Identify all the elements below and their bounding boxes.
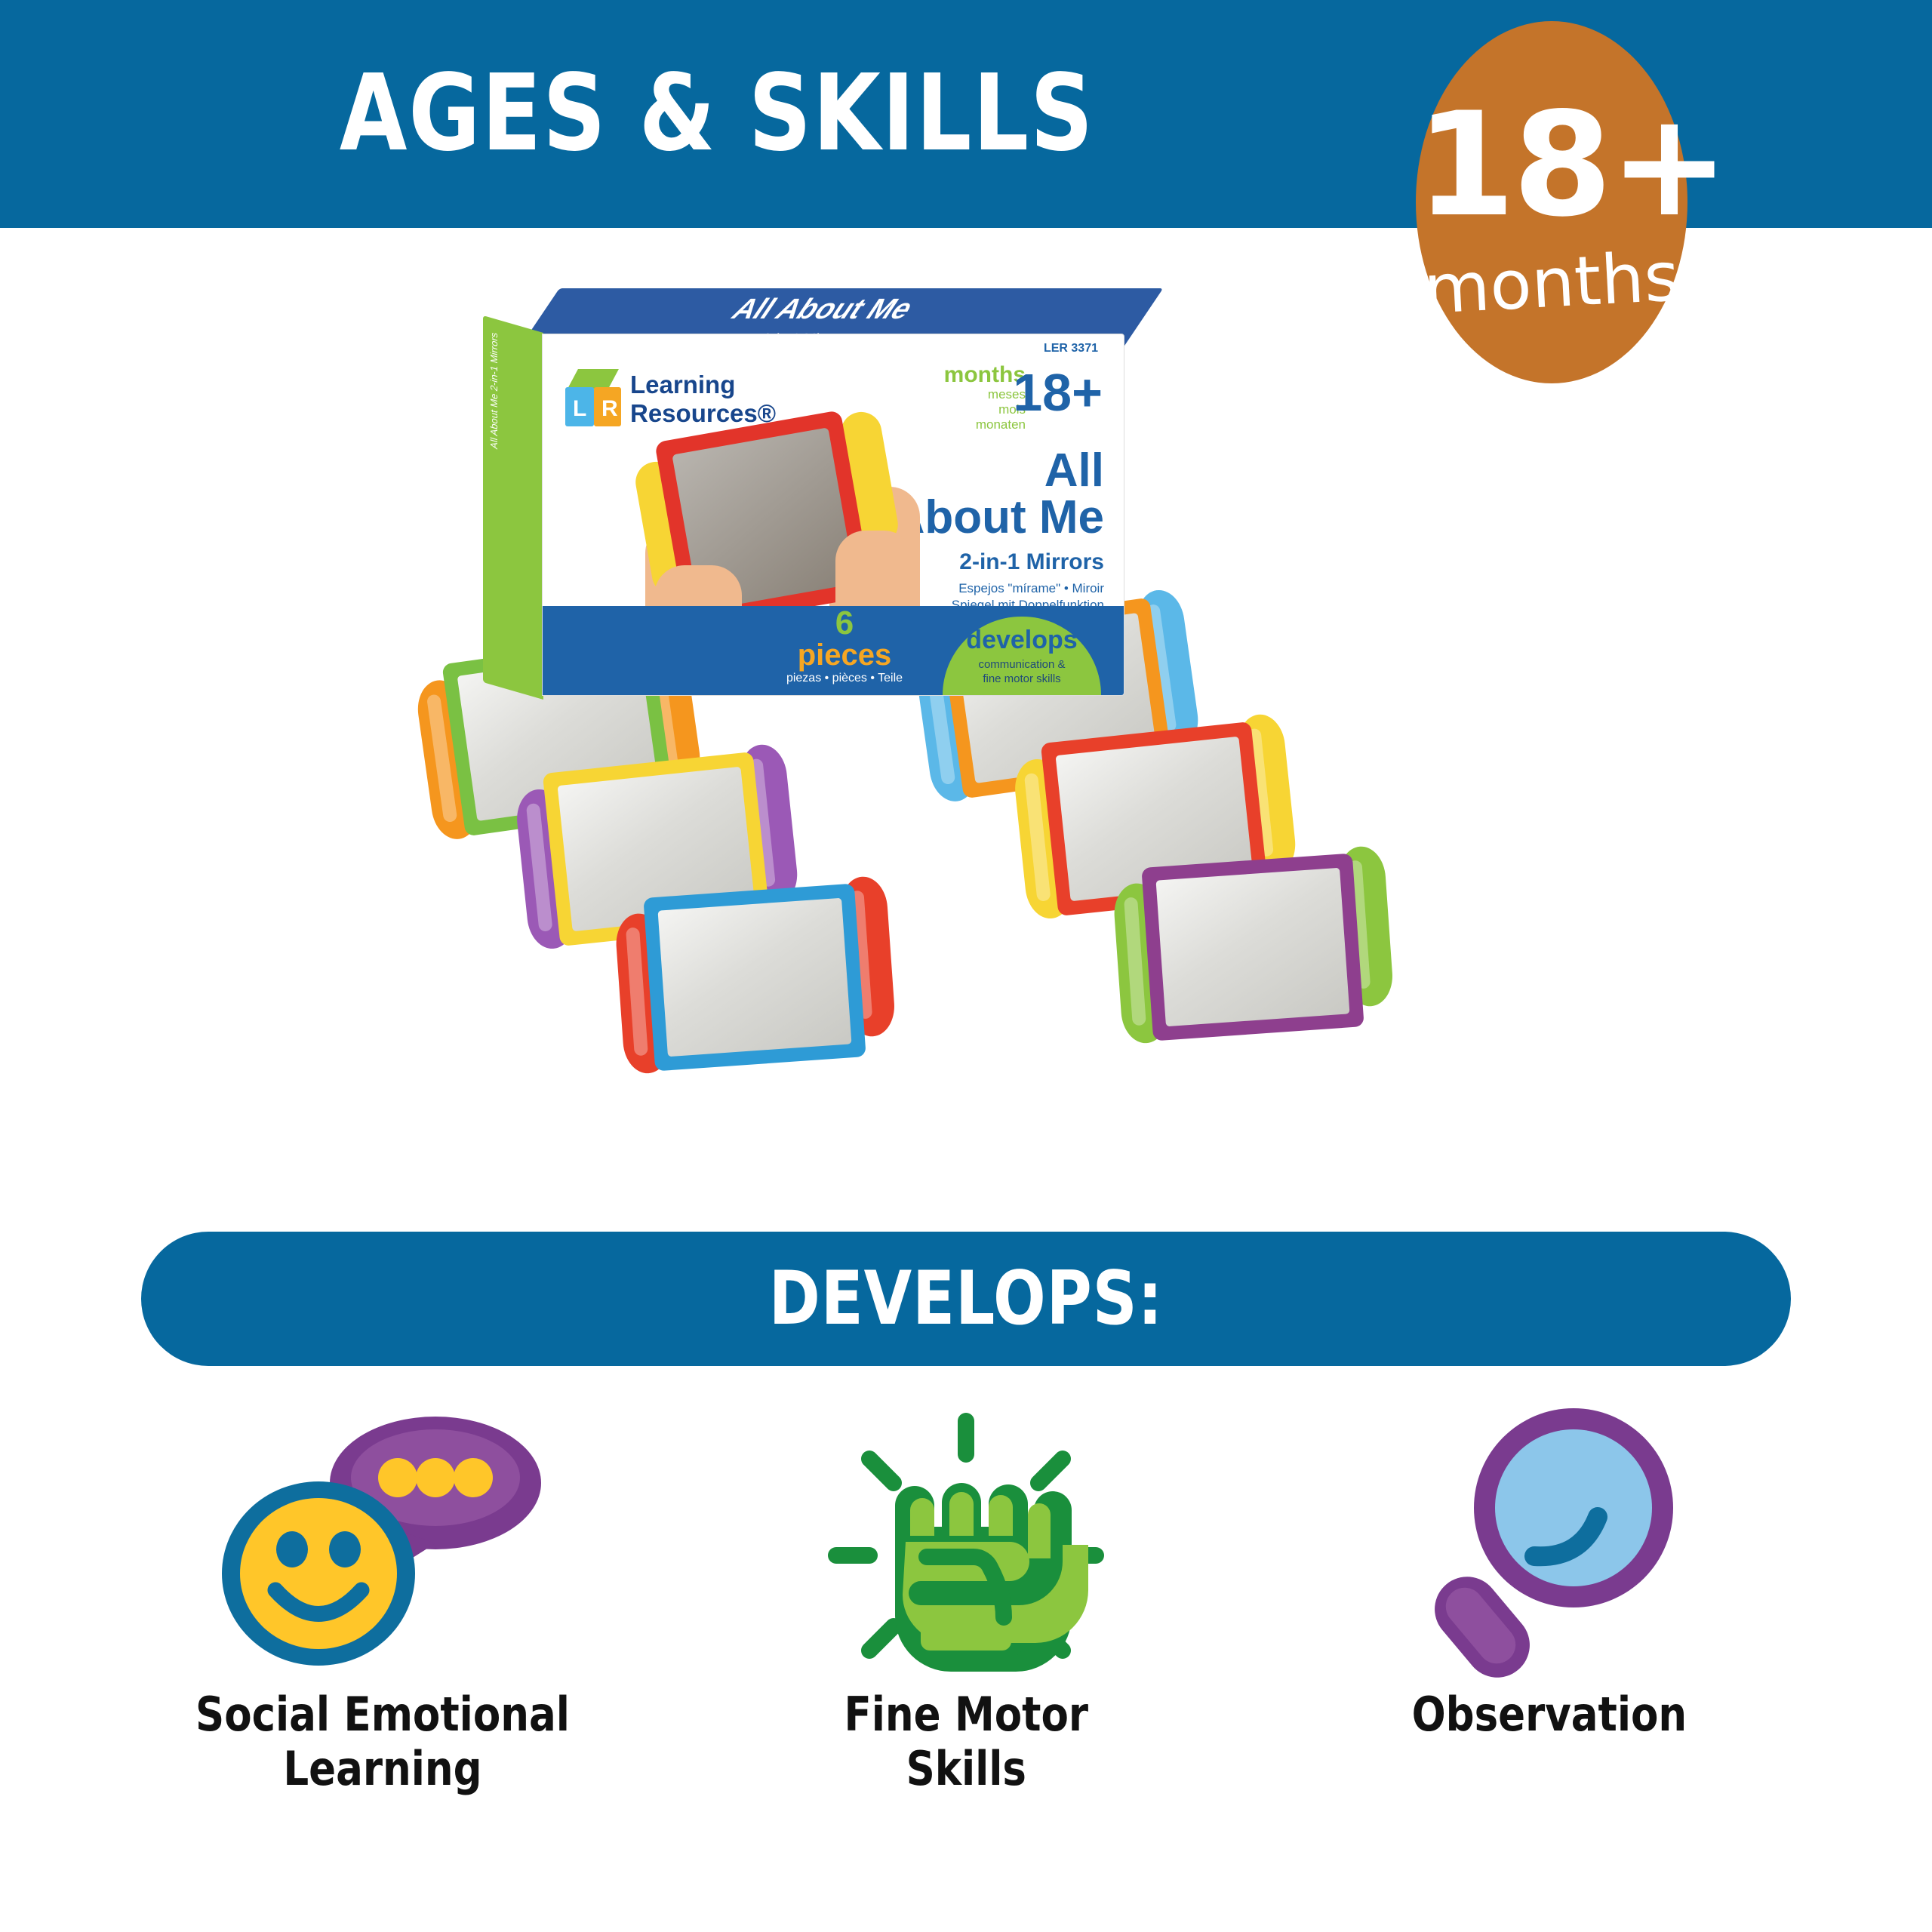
box-top-title: All About Me bbox=[571, 294, 1075, 325]
develops-banner: DEVELOPS: bbox=[141, 1232, 1791, 1366]
skill-label-observation: Observation bbox=[1412, 1687, 1687, 1742]
box-develops-badge: develops communication & fine motor skil… bbox=[943, 617, 1101, 695]
mirror-frame bbox=[643, 884, 866, 1072]
age-badge-number: 18+ bbox=[1416, 94, 1687, 237]
mirrors-product-photo bbox=[423, 634, 1509, 1223]
smiley-speech-bubble-icon bbox=[209, 1396, 556, 1683]
skill-0-label-line-2: Learning bbox=[195, 1742, 570, 1796]
magnifying-glass-icon bbox=[1414, 1396, 1685, 1683]
box-item-number: LER 3371 bbox=[1044, 342, 1098, 355]
product-box-photo: All About Me 2-in-1 Mirrors All About Me… bbox=[483, 288, 1147, 711]
age-badge: 18+ months bbox=[1416, 21, 1687, 383]
mirror-frame bbox=[1141, 854, 1364, 1041]
mirror-glass bbox=[658, 898, 852, 1057]
fist-fine-motor-icon bbox=[815, 1396, 1117, 1683]
age-badge-unit: months bbox=[1414, 241, 1690, 328]
box-develops-word: develops bbox=[943, 617, 1101, 657]
page-title: AGES & SKILLS bbox=[57, 57, 1377, 171]
blue-red-mirror bbox=[613, 881, 896, 1074]
skills-row: Social Emotional Learning bbox=[91, 1396, 1841, 1894]
skill-0-label-line-1: Social Emotional bbox=[195, 1687, 570, 1742]
develops-banner-label: DEVELOPS: bbox=[199, 1232, 1734, 1366]
box-pieces-block: 6 pieces piezas • pièces • Teile bbox=[769, 608, 920, 686]
skill-2-label-line-1: Observation bbox=[1412, 1687, 1687, 1742]
purple-green-mirror bbox=[1111, 851, 1394, 1044]
box-pieces-locale: piezas • pièces • Teile bbox=[769, 671, 920, 686]
box-pieces-word: pieces bbox=[769, 639, 920, 671]
mirror-glass bbox=[1156, 868, 1350, 1027]
box-front-panel: LER 3371 LR Learning Resources® months m… bbox=[542, 334, 1124, 696]
skill-label-fine-motor-skills: Fine Motor Skills bbox=[844, 1687, 1088, 1796]
skill-fine-motor-skills: Fine Motor Skills bbox=[724, 1396, 1207, 1796]
skill-label-social-emotional-learning: Social Emotional Learning bbox=[195, 1687, 570, 1796]
box-develops-line-1: communication & bbox=[943, 657, 1101, 672]
skill-1-label-line-1: Fine Motor bbox=[844, 1687, 1088, 1742]
skill-observation: Observation bbox=[1308, 1396, 1791, 1742]
box-pieces-count: 6 bbox=[769, 608, 920, 639]
box-age-value: 18+ bbox=[1013, 366, 1103, 419]
lr-cube-icon: LR bbox=[564, 369, 623, 428]
brand-line-1: Learning bbox=[630, 371, 776, 399]
box-develops-line-2: fine motor skills bbox=[943, 672, 1101, 686]
skill-1-label-line-2: Skills bbox=[844, 1742, 1088, 1796]
skill-social-emotional-learning: Social Emotional Learning bbox=[141, 1396, 624, 1796]
box-age-block: months meses mois monaten 18+ bbox=[944, 363, 1098, 432]
